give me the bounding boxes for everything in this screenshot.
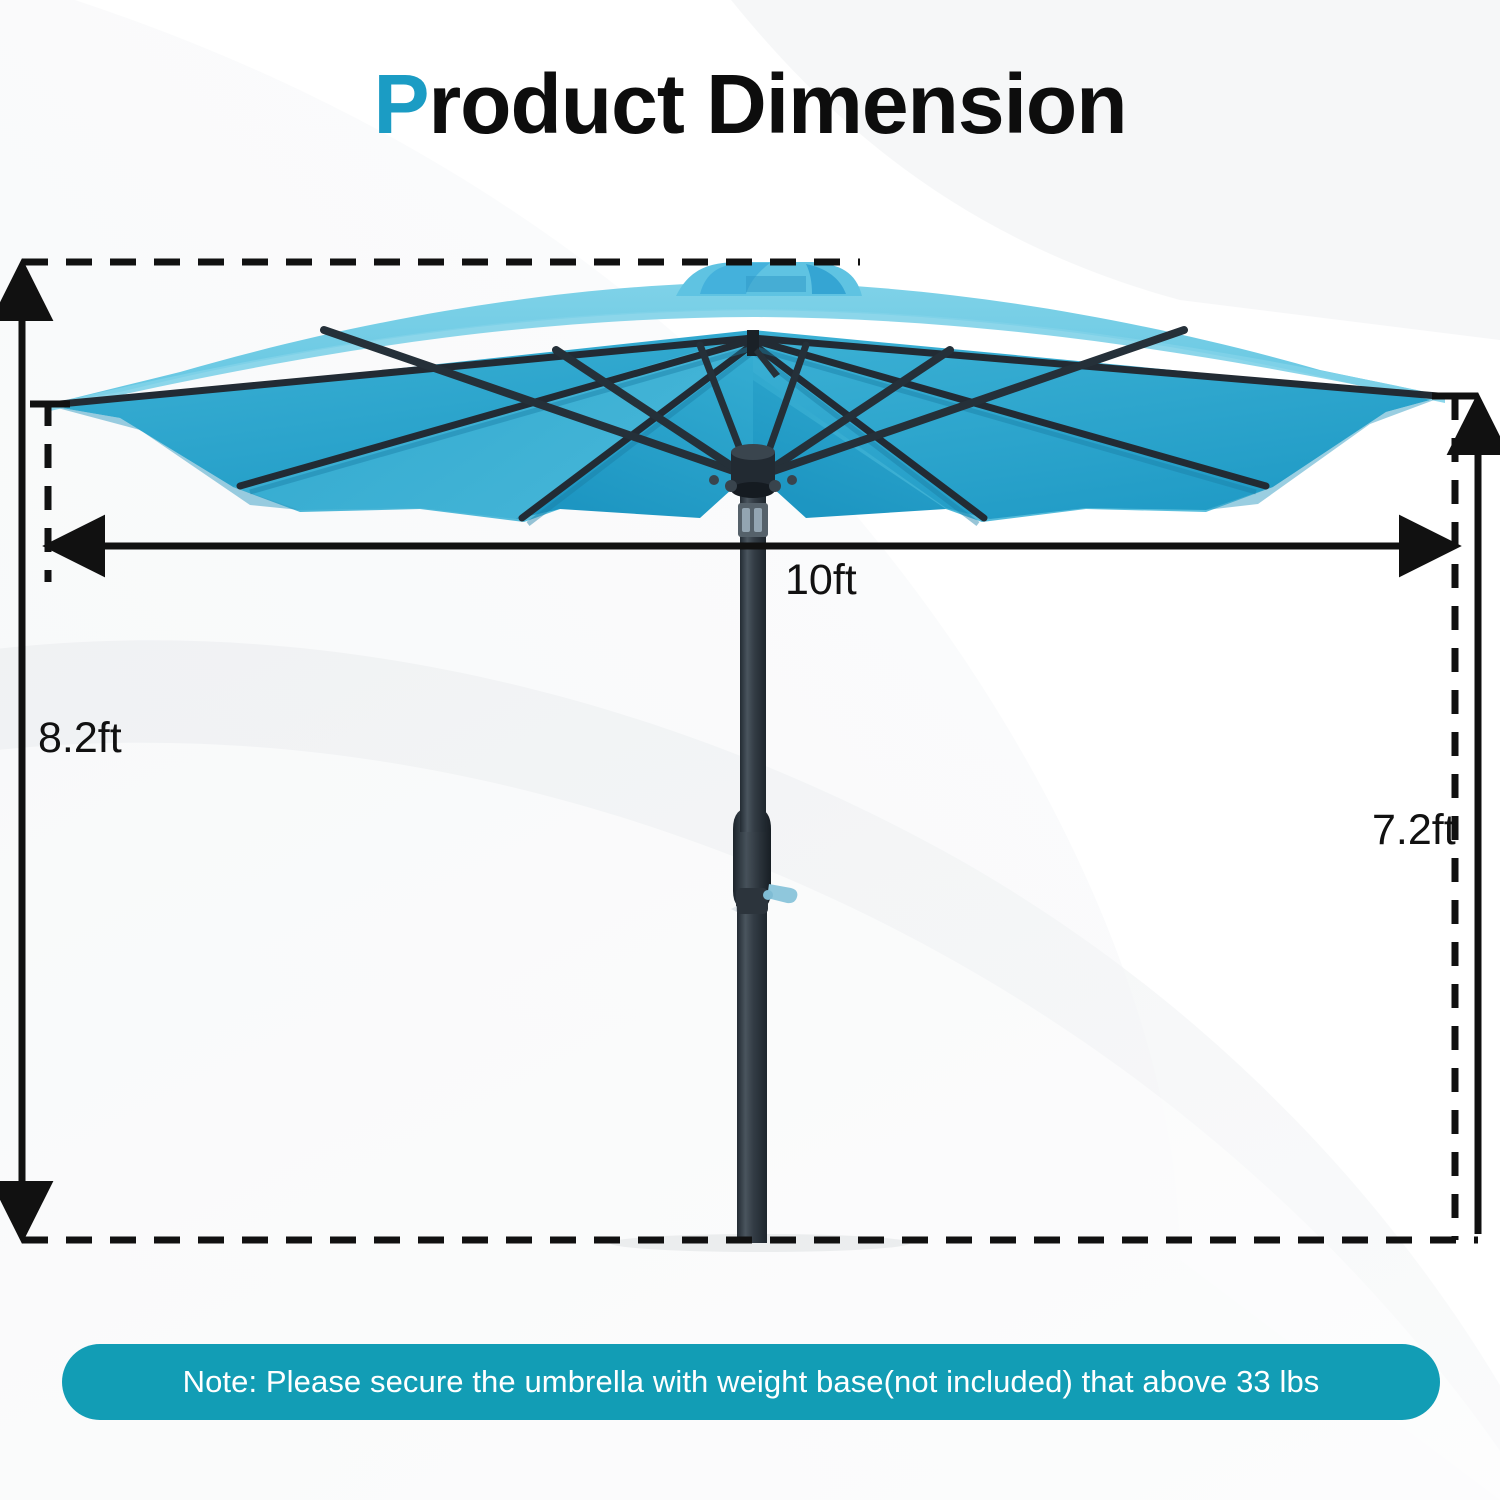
product-dimension-page: Product Dimension [0, 0, 1500, 1500]
note-text: Note: Please secure the umbrella with we… [183, 1364, 1320, 1400]
height-label-left: 8.2ft [38, 714, 122, 763]
height-label-right: 7.2ft [1372, 806, 1456, 855]
note-banner: Note: Please secure the umbrella with we… [62, 1344, 1440, 1420]
umbrella-canopy [50, 262, 1445, 524]
umbrella-illustration [50, 262, 1445, 1252]
width-label: 10ft [785, 556, 857, 605]
umbrella-pole-lower [737, 900, 767, 1243]
canopy-crown-vent [676, 262, 862, 296]
umbrella-dimension-diagram [0, 0, 1500, 1500]
